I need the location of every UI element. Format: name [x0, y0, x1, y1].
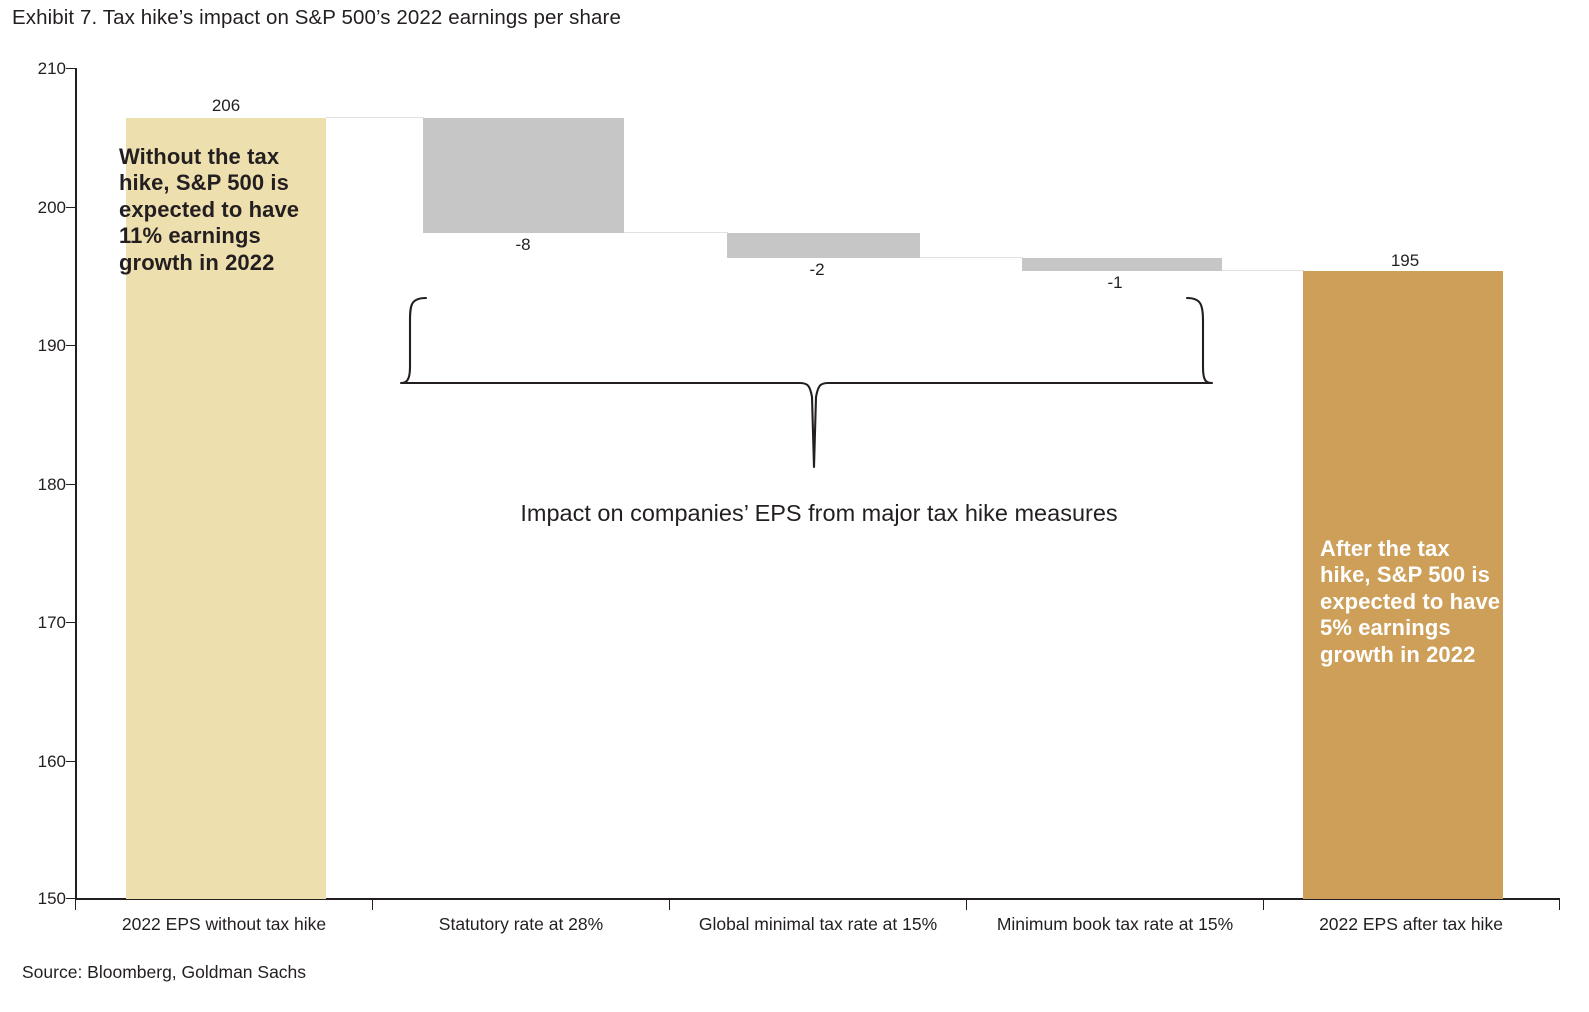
y-tick-label-170: 170	[38, 614, 66, 631]
bar-statutory-rate-28[interactable]	[423, 118, 624, 233]
y-tick-200	[66, 207, 76, 208]
y-tick-180	[66, 484, 76, 485]
x-tick-4	[1263, 899, 1264, 910]
chart-page: Exhibit 7. Tax hike’s impact on S&P 500’…	[0, 0, 1589, 1012]
connector-4	[1222, 270, 1304, 271]
y-tick-label-190: 190	[38, 337, 66, 354]
brace-bracket-icon	[400, 285, 1250, 485]
left-callout-note: Without the tax hike, S&P 500 is expecte…	[119, 144, 319, 276]
right-callout-note: After the tax hike, S&P 500 is expected …	[1320, 536, 1505, 668]
x-tick-5	[1559, 899, 1560, 910]
y-tick-label-210: 210	[38, 60, 66, 77]
y-tick-210	[66, 68, 76, 69]
x-category-label-3: Minimum book tax rate at 15%	[997, 914, 1233, 935]
x-tick-0	[75, 899, 76, 910]
bar-global-minimal-tax-rate-15[interactable]	[727, 233, 920, 258]
x-tick-1	[372, 899, 373, 910]
bar-value-195: 195	[1391, 251, 1419, 271]
connector-1	[326, 117, 424, 118]
bar-value-206: 206	[212, 96, 240, 116]
y-tick-label-160: 160	[38, 753, 66, 770]
y-tick-label-150: 150	[38, 890, 66, 907]
y-tick-190	[66, 345, 76, 346]
x-tick-3	[966, 899, 967, 910]
x-category-label-1: Statutory rate at 28%	[439, 914, 603, 935]
x-category-label-2: Global minimal tax rate at 15%	[699, 914, 937, 935]
x-tick-2	[669, 899, 670, 910]
y-tick-label-200: 200	[38, 199, 66, 216]
y-tick-170	[66, 622, 76, 623]
x-category-label-0: 2022 EPS without tax hike	[122, 914, 326, 935]
connector-3	[920, 257, 1023, 258]
source-note: Source: Bloomberg, Goldman Sachs	[22, 962, 306, 983]
x-category-label-4: 2022 EPS after tax hike	[1319, 914, 1503, 935]
plot-area: 210 200 190 180 170 160 150 206 Without …	[0, 0, 1589, 1012]
brace-annotation-label: Impact on companies’ EPS from major tax …	[520, 500, 1117, 527]
connector-2	[624, 232, 728, 233]
bar-minimum-book-tax-rate-15[interactable]	[1022, 258, 1222, 271]
bar-value-minus-2: -2	[809, 260, 824, 280]
y-tick-label-180: 180	[38, 476, 66, 493]
bar-value-minus-8: -8	[515, 235, 530, 255]
y-tick-160	[66, 761, 76, 762]
